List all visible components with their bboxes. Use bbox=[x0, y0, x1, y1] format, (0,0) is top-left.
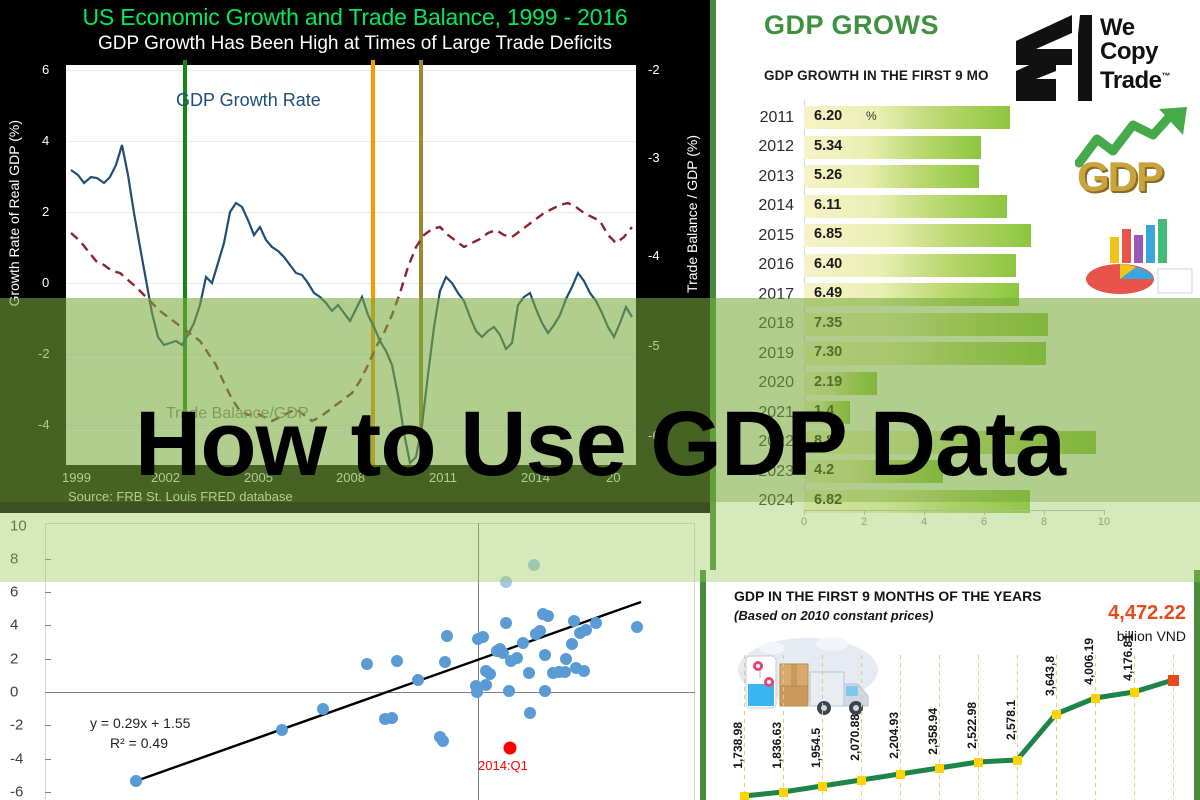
bar-year: 2016 bbox=[756, 256, 804, 274]
bar-year: 2011 bbox=[756, 109, 804, 127]
vnd-point-label: 4,176.81 bbox=[1121, 634, 1135, 681]
bar-year: 2014 bbox=[756, 197, 804, 215]
vnd-point-label: 2,358.94 bbox=[926, 708, 940, 755]
trademark-symbol: ™ bbox=[1162, 71, 1171, 81]
logo-line-2: Copy bbox=[1100, 40, 1170, 64]
vnd-point-label: 4,006.19 bbox=[1082, 638, 1096, 685]
scatter-equation: y = 0.29x + 1.55 bbox=[90, 715, 190, 731]
vnd-point-label: 1,836.63 bbox=[770, 722, 784, 769]
vnd-marker bbox=[896, 770, 905, 779]
bar-value: 6.20 bbox=[814, 108, 842, 124]
fred-y-right-tick-n4: -4 bbox=[648, 248, 660, 263]
logo-line-1: We bbox=[1100, 16, 1170, 40]
scatter-trendline bbox=[136, 602, 641, 781]
wecopytrade-logo[interactable]: We Copy Trade™ bbox=[1005, 8, 1195, 108]
vnd-marker bbox=[740, 792, 749, 800]
gdp-grows-header: GDP GROWS bbox=[764, 10, 939, 41]
scatter-r-squared: R² = 0.49 bbox=[110, 735, 168, 751]
percent-symbol: % bbox=[866, 109, 877, 123]
vnd-marker bbox=[1052, 710, 1061, 719]
gdp-growth-arrow-art: GDP bbox=[1075, 105, 1195, 215]
fred-y-right-axis-label: Trade Balance / GDP (%) bbox=[684, 135, 700, 293]
pie-and-bars-art bbox=[1080, 215, 1195, 300]
panel-vnd-gdp-line: GDP IN THE FIRST 9 MONTHS OF THE YEARS (… bbox=[700, 570, 1200, 800]
vnd-marker bbox=[818, 782, 827, 791]
fred-y-left-axis-label: Growth Rate of Real GDP (%) bbox=[6, 120, 22, 306]
gdp-growth-rate-label: GDP Growth Rate bbox=[176, 90, 321, 111]
vnd-marker bbox=[935, 764, 944, 773]
table-row: 20156.85 bbox=[756, 221, 1136, 251]
page-title: How to Use GDP Data bbox=[0, 396, 1200, 492]
logo-text: We Copy Trade™ bbox=[1100, 16, 1170, 93]
fred-y-left-tick-0: 0 bbox=[42, 275, 49, 290]
vnd-marker bbox=[857, 776, 866, 785]
vnd-marker bbox=[1130, 688, 1139, 697]
bar-value: 6.40 bbox=[814, 256, 842, 272]
vnd-point-label: 1,738.98 bbox=[731, 722, 745, 769]
vnd-point-label: 2,522.98 bbox=[965, 702, 979, 749]
gdp-word-art: GDP bbox=[1077, 153, 1162, 201]
vnd-marker-final bbox=[1168, 675, 1179, 686]
bar-value: 6.85 bbox=[814, 226, 842, 242]
fred-y-right-tick-n3: -3 bbox=[648, 150, 660, 165]
bar-value: 6.11 bbox=[814, 197, 841, 213]
gdp-grows-subheader: GDP GROWTH IN THE FIRST 9 MO bbox=[764, 68, 989, 83]
scatter-highlight-point-2014q1 bbox=[504, 742, 517, 755]
bar-value: 5.34 bbox=[814, 138, 842, 154]
bar-year: 2015 bbox=[756, 227, 804, 245]
infographic-collage: US Economic Growth and Trade Balance, 19… bbox=[0, 0, 1200, 800]
chevron-arrow-logo-icon bbox=[1010, 13, 1095, 103]
vnd-marker bbox=[974, 758, 983, 767]
bar-year: 2012 bbox=[756, 138, 804, 156]
fred-y-left-tick-6: 6 bbox=[42, 62, 49, 77]
vnd-point-label: 1,954.5 bbox=[809, 728, 823, 768]
table-row: 20166.40 bbox=[756, 251, 1136, 281]
title-overlay-band-lower bbox=[0, 502, 1200, 582]
bar-year: 2013 bbox=[756, 168, 804, 186]
vnd-marker bbox=[1013, 756, 1022, 765]
logo-line-3-wrap: Trade™ bbox=[1100, 64, 1170, 93]
fred-chart-subtitle: GDP Growth Has Been High at Times of Lar… bbox=[0, 33, 710, 55]
fred-y-right-tick-n2: -2 bbox=[648, 62, 660, 77]
vnd-point-label: 2,578.1 bbox=[1004, 700, 1018, 740]
fred-y-left-tick-2: 2 bbox=[42, 204, 49, 219]
vnd-marker bbox=[779, 788, 788, 797]
fred-chart-title: US Economic Growth and Trade Balance, 19… bbox=[0, 4, 710, 31]
vnd-point-label: 2,070.88 bbox=[848, 714, 862, 761]
scatter-annotation-2014q1: 2014:Q1 bbox=[478, 758, 528, 773]
logo-line-3: Trade bbox=[1100, 67, 1162, 94]
bar-value: 5.26 bbox=[814, 167, 842, 183]
fred-y-left-tick-4: 4 bbox=[42, 133, 49, 148]
vnd-point-label: 2,204.93 bbox=[887, 712, 901, 759]
vnd-point-label: 3,643,8 bbox=[1043, 656, 1057, 696]
vnd-marker bbox=[1091, 694, 1100, 703]
